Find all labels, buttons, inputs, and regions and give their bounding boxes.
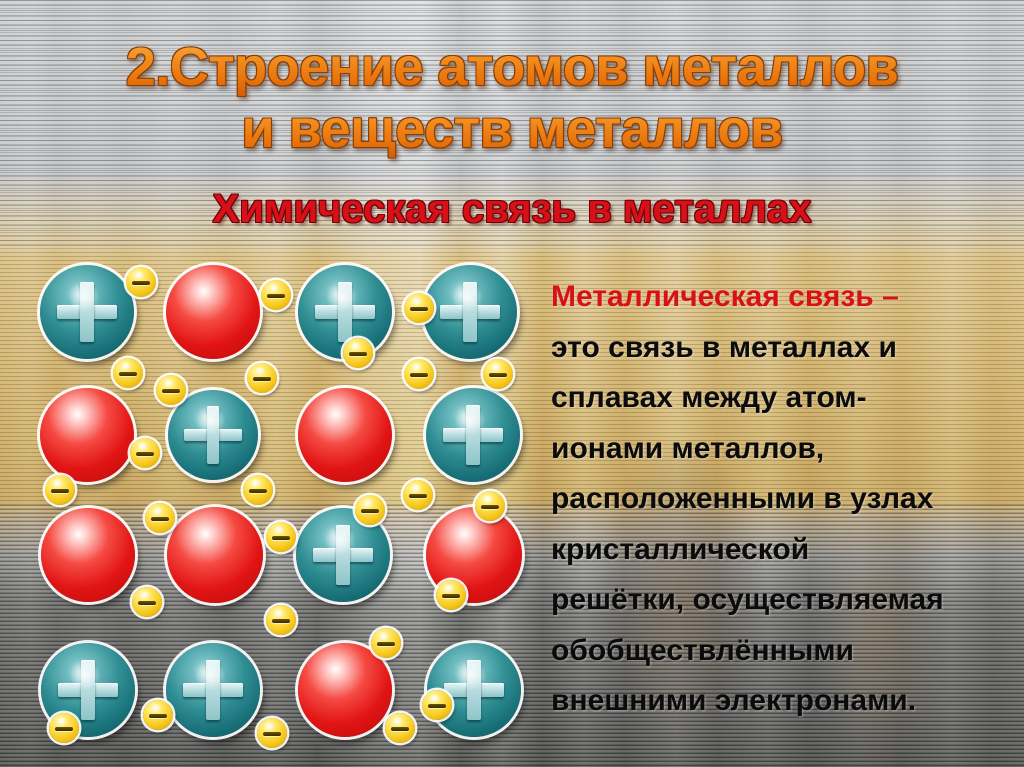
free-electron-icon	[130, 438, 160, 468]
free-electron-icon	[385, 713, 415, 743]
free-electron-icon	[126, 267, 156, 297]
slide-title-line-2: и веществ металлов	[0, 98, 1024, 160]
sphere-surface	[167, 507, 263, 603]
slide-title-line-1: 2.Строение атомов металлов	[0, 36, 1024, 98]
metal-atom-sphere	[298, 388, 392, 482]
free-electron-icon	[483, 359, 513, 389]
plus-icon	[423, 265, 517, 359]
definition-line: решётки, осуществляемая	[551, 575, 1021, 626]
definition-line: ионами металлов,	[551, 424, 1021, 475]
sphere-surface	[298, 643, 392, 737]
free-electron-icon	[404, 359, 434, 389]
free-electron-icon	[247, 363, 277, 393]
definition-line: сплавах между атом-	[551, 373, 1021, 424]
metal-atom-sphere	[166, 265, 260, 359]
free-electron-icon	[257, 718, 287, 748]
plus-icon	[426, 388, 520, 482]
definition-line: кристаллической	[551, 525, 1021, 576]
plus-icon	[40, 265, 134, 359]
sphere-surface	[166, 265, 260, 359]
sphere-surface	[298, 388, 392, 482]
free-electron-icon	[45, 475, 75, 505]
free-electron-icon	[132, 587, 162, 617]
definition-text-block: Металлическая связь –это связь в металла…	[551, 272, 1021, 727]
free-electron-icon	[355, 495, 385, 525]
plus-icon	[166, 643, 260, 737]
free-electron-icon	[475, 491, 505, 521]
metal-cation-sphere	[168, 390, 258, 480]
definition-line: Металлическая связь –	[551, 272, 1021, 323]
free-electron-icon	[371, 628, 401, 658]
free-electron-icon	[343, 338, 373, 368]
free-electron-icon	[261, 280, 291, 310]
free-electron-icon	[422, 690, 452, 720]
metal-cation-sphere	[426, 388, 520, 482]
free-electron-icon	[156, 375, 186, 405]
presentation-slide: 2.Строение атомов металлов и веществ мет…	[0, 0, 1024, 767]
free-electron-icon	[143, 700, 173, 730]
definition-line: обобществлёнными	[551, 626, 1021, 677]
free-electron-icon	[404, 293, 434, 323]
metal-atom-sphere	[40, 388, 134, 482]
free-electron-icon	[266, 522, 296, 552]
sphere-surface	[40, 388, 134, 482]
metal-atom-sphere	[298, 643, 392, 737]
metal-cation-sphere	[423, 265, 517, 359]
free-electron-icon	[266, 605, 296, 635]
free-electron-icon	[113, 358, 143, 388]
plus-icon	[168, 390, 258, 480]
definition-line: расположенными в узлах	[551, 474, 1021, 525]
metal-atom-sphere	[167, 507, 263, 603]
free-electron-icon	[49, 713, 79, 743]
slide-title: 2.Строение атомов металлов и веществ мет…	[0, 36, 1024, 160]
free-electron-icon	[436, 580, 466, 610]
metal-cation-sphere	[166, 643, 260, 737]
definition-line: это связь в металлах и	[551, 323, 1021, 374]
metal-cation-sphere	[40, 265, 134, 359]
free-electron-icon	[403, 480, 433, 510]
sphere-surface	[41, 508, 135, 602]
free-electron-icon	[243, 475, 273, 505]
metallic-bond-lattice	[0, 250, 530, 767]
metal-atom-sphere	[41, 508, 135, 602]
definition-line: внешними электронами.	[551, 676, 1021, 727]
slide-subtitle: Химическая связь в металлах	[0, 185, 1024, 233]
free-electron-icon	[145, 503, 175, 533]
